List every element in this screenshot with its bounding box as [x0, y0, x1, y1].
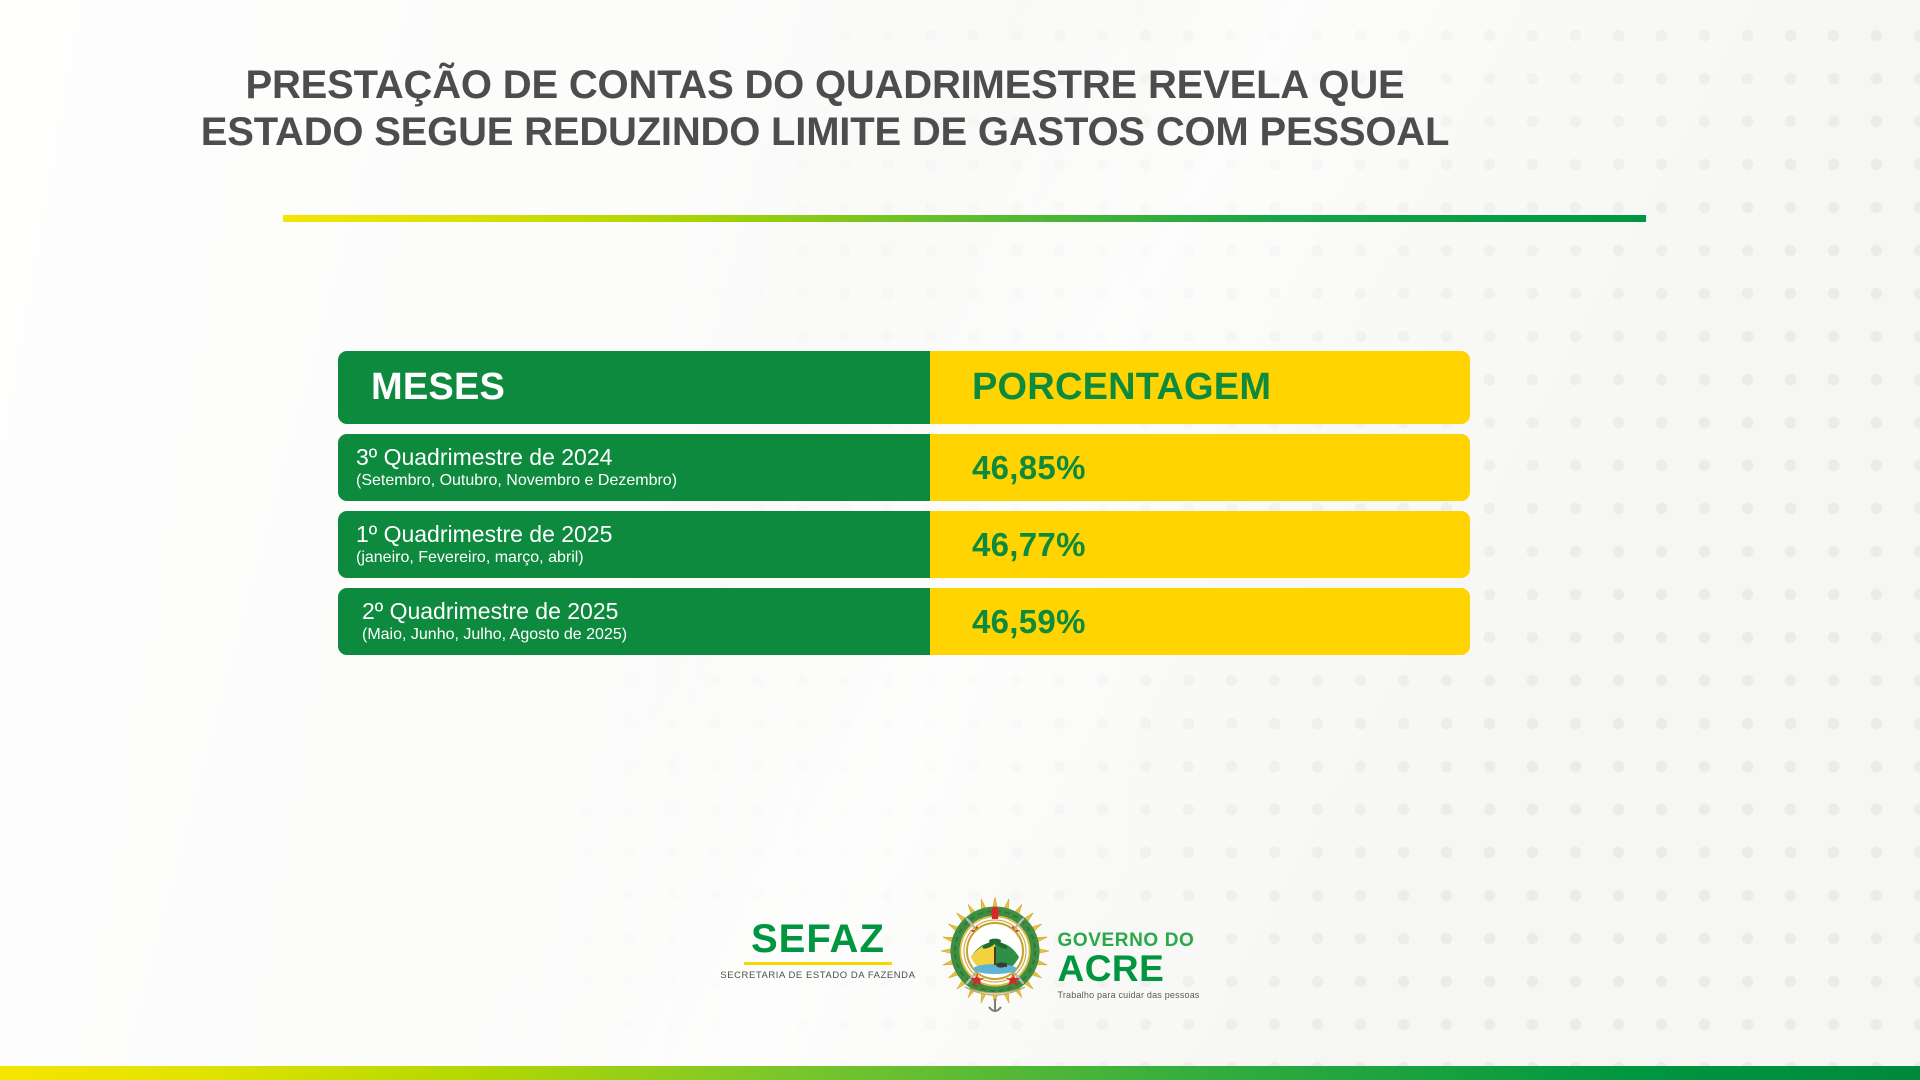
coat-of-arms-icon — [939, 895, 1051, 1022]
months-label: (Setembro, Outubro, Novembro e Dezembro) — [356, 471, 930, 491]
table-cell-months: 1º Quadrimestre de 2025 (janeiro, Fevere… — [338, 511, 930, 578]
table-row: 3º Quadrimestre de 2024 (Setembro, Outub… — [338, 434, 1470, 501]
period-label: 2º Quadrimestre de 2025 — [362, 598, 930, 624]
table-cell-months: 3º Quadrimestre de 2024 (Setembro, Outub… — [338, 434, 930, 501]
percentages-table: MESES PORCENTAGEM 3º Quadrimestre de 202… — [338, 351, 1470, 665]
footer-logos: SEFAZ SECRETARIA DE ESTADO DA FAZENDA — [0, 895, 1920, 1022]
slide-content: PRESTAÇÃO DE CONTAS DO QUADRIMESTRE REVE… — [0, 0, 1920, 1080]
table-header-row: MESES PORCENTAGEM — [338, 351, 1470, 424]
period-label: 3º Quadrimestre de 2024 — [356, 444, 930, 470]
sefaz-logo: SEFAZ SECRETARIA DE ESTADO DA FAZENDA — [720, 895, 915, 981]
sefaz-wordmark: SEFAZ — [720, 919, 915, 959]
table-row: 1º Quadrimestre de 2025 (janeiro, Fevere… — [338, 511, 1470, 578]
table-row: 2º Quadrimestre de 2025 (Maio, Junho, Ju… — [338, 588, 1470, 655]
sefaz-subtitle: SECRETARIA DE ESTADO DA FAZENDA — [720, 970, 915, 981]
table-header-cell-months: MESES — [338, 351, 930, 424]
table-cell-percentage: 46,85% — [920, 434, 1470, 501]
column-header-porcentagem: PORCENTAGEM — [972, 366, 1271, 409]
page-title-line-2: ESTADO SEGUE REDUZINDO LIMITE DE GASTOS … — [0, 109, 1650, 156]
months-label: (janeiro, Fevereiro, março, abril) — [356, 548, 930, 568]
period-label: 1º Quadrimestre de 2025 — [356, 521, 930, 547]
percentage-value: 46,59% — [972, 603, 1086, 641]
table-cell-months: 2º Quadrimestre de 2025 (Maio, Junho, Ju… — [338, 588, 930, 655]
bottom-gradient-strip — [0, 1066, 1920, 1080]
acre-wordmark: GOVERNO DO ACRE Trabalho para cuidar das… — [1057, 917, 1199, 1000]
governo-do-acre-logo: GOVERNO DO ACRE Trabalho para cuidar das… — [939, 895, 1199, 1022]
sefaz-underline — [744, 962, 892, 965]
table-cell-percentage: 46,77% — [920, 511, 1470, 578]
table-header-cell-percentage: PORCENTAGEM — [920, 351, 1470, 424]
page-title-line-1: PRESTAÇÃO DE CONTAS DO QUADRIMESTRE REVE… — [0, 62, 1650, 109]
column-header-meses: MESES — [371, 366, 930, 409]
acre-line-acre: ACRE — [1057, 950, 1199, 988]
title-divider — [283, 215, 1646, 222]
page-title: PRESTAÇÃO DE CONTAS DO QUADRIMESTRE REVE… — [0, 62, 1650, 156]
acre-tagline: Trabalho para cuidar das pessoas — [1057, 990, 1199, 1000]
table-cell-percentage: 46,59% — [920, 588, 1470, 655]
months-label: (Maio, Junho, Julho, Agosto de 2025) — [362, 625, 930, 645]
percentage-value: 46,77% — [972, 526, 1086, 564]
percentage-value: 46,85% — [972, 449, 1086, 487]
